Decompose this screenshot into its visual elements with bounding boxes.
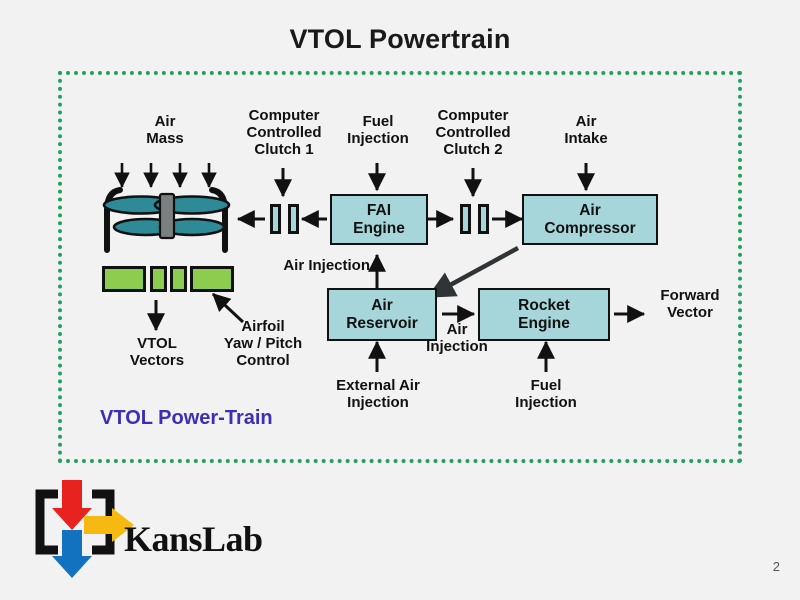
clutch-2-plate-b[interactable] (478, 204, 489, 234)
clutch-2-plate-a[interactable] (460, 204, 471, 234)
airfoil-bar-3[interactable] (170, 266, 187, 292)
logo-wordmark: KansLab (124, 518, 263, 560)
label-air-injection-fai: Air Injection (266, 258, 370, 275)
clutch-1-plate-b[interactable] (288, 204, 299, 234)
label-air-injection-reservoir: Air Injection (424, 322, 490, 356)
airfoil-bar-1[interactable] (102, 266, 146, 292)
airfoil-bar-4[interactable] (190, 266, 234, 292)
label-computer-controlled-clutch-2: Computer Controlled Clutch 2 (422, 108, 524, 158)
airfoil-bar-2[interactable] (150, 266, 167, 292)
label-air-mass: Air Mass (125, 114, 205, 148)
label-computer-controlled-clutch-1: Computer Controlled Clutch 1 (233, 108, 335, 158)
box-rocket-engine[interactable]: Rocket Engine (478, 288, 610, 341)
box-air-compressor[interactable]: Air Compressor (522, 194, 658, 245)
rotor-blades (104, 194, 229, 238)
box-air-reservoir[interactable]: Air Reservoir (327, 288, 437, 341)
diagram-caption: VTOL Power-Train (100, 407, 273, 430)
arrow-airfoil-control (213, 294, 243, 322)
page-number: 2 (773, 559, 780, 574)
label-air-intake: Air Intake (546, 114, 626, 148)
air-mass-arrows (122, 163, 209, 187)
label-forward-vector: Forward Vector (644, 288, 736, 322)
label-fuel-injection-rocket: Fuel Injection (504, 378, 588, 412)
clutch-1-plate-a[interactable] (270, 204, 281, 234)
label-vtol-vectors: VTOL Vectors (116, 336, 198, 370)
label-airfoil-yaw-pitch-control: Airfoil Yaw / Pitch Control (207, 319, 319, 369)
kanslab-logo[interactable]: KansLab (20, 472, 270, 582)
slide-canvas: VTOL Powertrain (0, 0, 800, 600)
box-fai-engine[interactable]: FAI Engine (330, 194, 428, 245)
label-fuel-injection-fai: Fuel Injection (337, 114, 419, 148)
label-external-air-injection: External Air Injection (318, 378, 438, 412)
